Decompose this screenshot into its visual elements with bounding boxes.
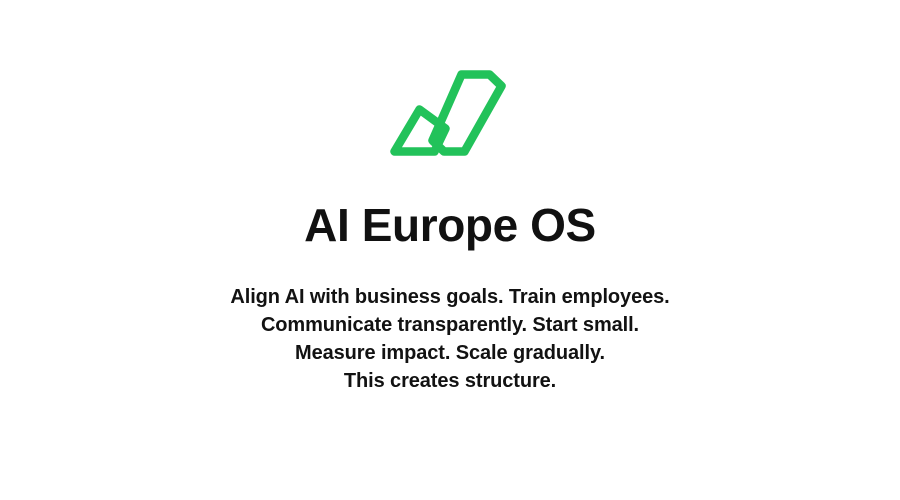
body-line: Measure impact. Scale gradually.: [0, 339, 900, 367]
body-line: This creates structure.: [0, 367, 900, 395]
body-line: Communicate transparently. Start small.: [0, 311, 900, 339]
slide-canvas: AI Europe OS Align AI with business goal…: [0, 0, 900, 500]
brand-logo: [0, 62, 900, 162]
page-title: AI Europe OS: [0, 199, 900, 251]
ai-europe-os-logo-icon: [385, 62, 515, 162]
body-copy: Align AI with business goals. Train empl…: [0, 283, 900, 395]
body-line: Align AI with business goals. Train empl…: [0, 283, 900, 311]
